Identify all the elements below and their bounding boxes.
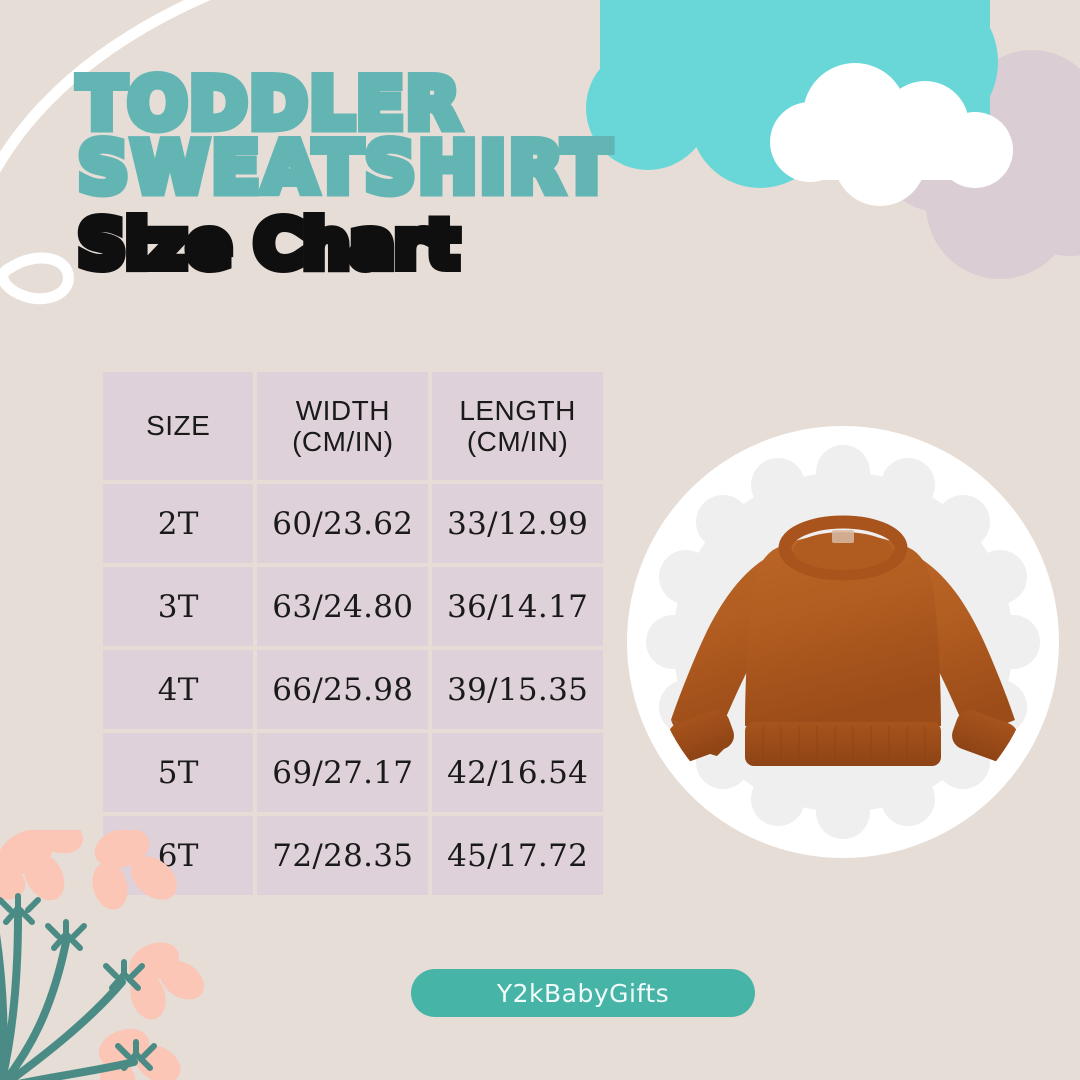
column-header-size: SIZE [103,372,253,480]
cell-width: 66/25.98 [257,650,428,729]
table-header-row: SIZE WIDTH (CM/IN) LENGTH (CM/IN) [103,372,603,480]
flower-decoration [0,830,272,1080]
swirl-loop-icon [3,258,68,299]
cell-width: 60/23.62 [257,484,428,563]
column-header-width: WIDTH (CM/IN) [257,372,428,480]
table-row: 2T 60/23.62 33/12.99 [103,484,603,563]
size-chart-canvas: TODDLER SWEATSHIRT Size Chart SIZE WIDTH… [0,0,1080,1080]
cell-size: 2T [103,484,253,563]
column-header-length-line1: LENGTH [432,395,603,426]
cell-length: 33/12.99 [432,484,603,563]
title-line-sweatshirt: SWEATSHIRT [78,136,738,200]
hem-ribbing [745,722,941,766]
column-header-length: LENGTH (CM/IN) [432,372,603,480]
product-image-medallion [621,420,1065,864]
brand-badge-label: Y2kBabyGifts [497,979,669,1008]
column-header-width-line1: WIDTH [257,395,428,426]
cell-size: 3T [103,567,253,646]
column-header-length-line2: (CM/IN) [432,426,603,457]
size-chart-table: SIZE WIDTH (CM/IN) LENGTH (CM/IN) 2T 60/… [99,368,607,899]
title-line-size-chart: Size Chart [78,215,738,276]
table-row: 5T 69/27.17 42/16.54 [103,733,603,812]
column-header-width-line2: (CM/IN) [257,426,428,457]
cell-size: 5T [103,733,253,812]
neck-label [832,530,854,543]
column-header-size-line1: SIZE [103,410,253,441]
brand-badge[interactable]: Y2kBabyGifts [411,969,755,1017]
table-row: 3T 63/24.80 36/14.17 [103,567,603,646]
cell-width: 63/24.80 [257,567,428,646]
cell-size: 4T [103,650,253,729]
cell-width: 72/28.35 [257,816,428,895]
cell-length: 39/15.35 [432,650,603,729]
table-row: 4T 66/25.98 39/15.35 [103,650,603,729]
cell-width: 69/27.17 [257,733,428,812]
page-title: TODDLER SWEATSHIRT Size Chart [78,72,738,276]
cell-length: 42/16.54 [432,733,603,812]
cloud-white-icon [770,63,1013,206]
cell-length: 45/17.72 [432,816,603,895]
cloud-mauve-icon [867,50,1080,279]
cell-length: 36/14.17 [432,567,603,646]
